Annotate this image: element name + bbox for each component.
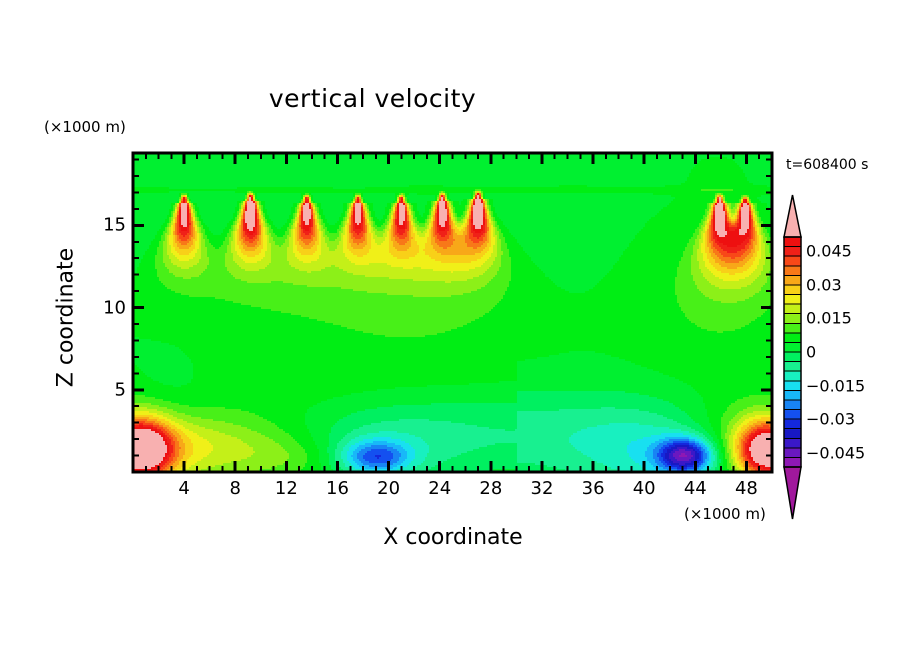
x-tick-label: 16 [326,478,349,499]
x-tick-label: 24 [428,478,451,499]
x-tick-label: 32 [531,478,554,499]
y-tick-label: 10 [86,297,126,318]
figure-canvas: vertical velocity (×1000 m) (×1000 m) X … [0,0,904,654]
x-tick-label: 48 [735,478,758,499]
colorbar-tick-label: 0.045 [806,242,852,261]
colorbar-tick-label: 0.015 [806,309,852,328]
colorbar-tick-label: 0 [806,343,816,362]
x-tick-label: 44 [684,478,707,499]
x-tick-label: 12 [275,478,298,499]
x-tick-label: 4 [178,478,189,499]
colorbar-tick-label: −0.045 [806,444,865,463]
colorbar-tick-label: 0.03 [806,275,842,294]
y-tick-label: 5 [86,379,126,400]
x-tick-label: 20 [377,478,400,499]
x-tick-label: 8 [230,478,241,499]
x-tick-label: 40 [633,478,656,499]
x-tick-label: 36 [582,478,605,499]
contour-field [133,153,773,473]
contour-plot [0,0,904,654]
y-tick-label: 15 [86,215,126,236]
x-tick-label: 28 [479,478,502,499]
colorbar-tick-label: −0.015 [806,376,865,395]
colorbar [784,195,801,519]
colorbar-tick-label: −0.03 [806,410,855,429]
